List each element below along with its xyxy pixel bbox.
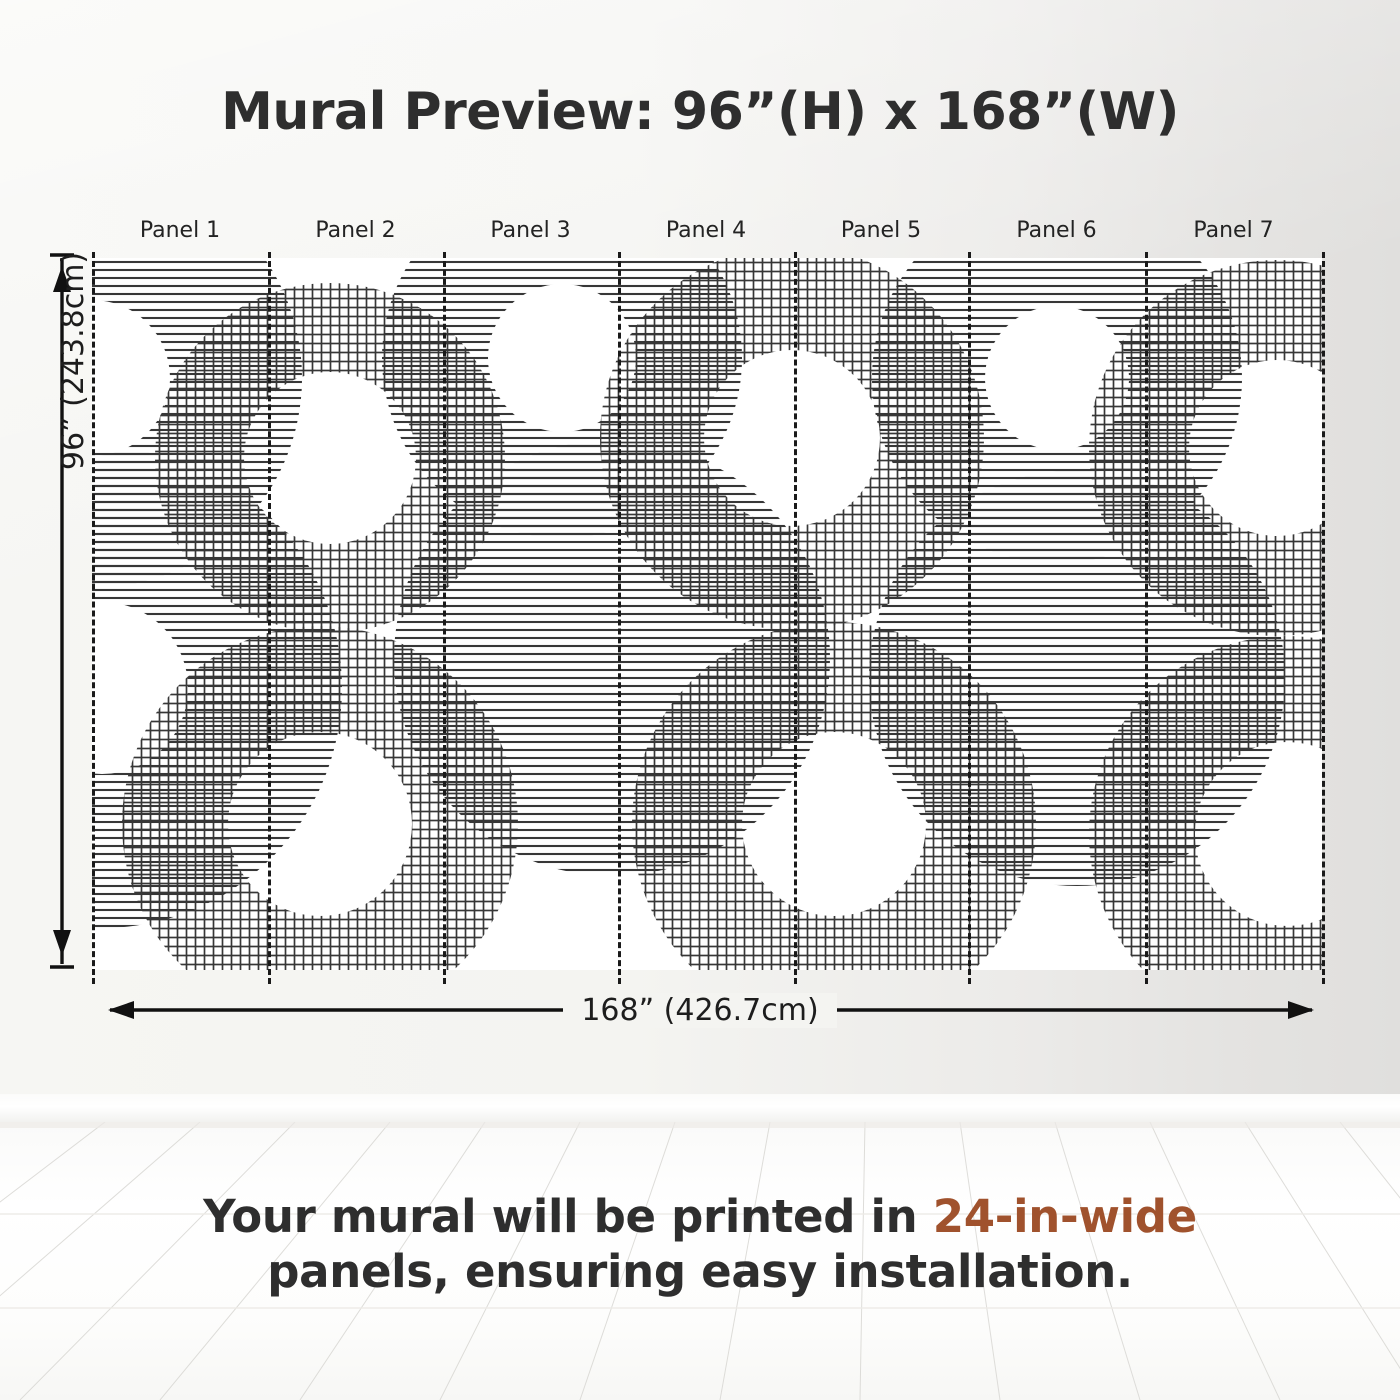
caption-line-1-text: Your mural will be printed in	[203, 1190, 933, 1243]
height-dimension-label: 96” (243.8cm)	[56, 211, 91, 511]
panel-label-3: Panel 3	[443, 218, 618, 243]
panel-divider-2	[443, 252, 446, 984]
panel-label-5: Panel 5	[794, 218, 968, 243]
caption-line-2: panels, ensuring easy installation.	[0, 1245, 1400, 1300]
panel-label-1: Panel 1	[92, 218, 268, 243]
panel-divider-6	[1145, 252, 1148, 984]
panel-label-7: Panel 7	[1145, 218, 1322, 243]
mural-art-svg	[92, 258, 1322, 970]
panel-label-2: Panel 2	[268, 218, 443, 243]
panel-divider-4	[794, 252, 797, 984]
caption: Your mural will be printed in 24-in-wide…	[0, 1190, 1400, 1300]
panel-divider-1	[268, 252, 271, 984]
panel-divider-7	[1322, 252, 1325, 984]
width-dimension-label: 168” (426.7cm)	[0, 993, 1400, 1028]
panel-label-4: Panel 4	[618, 218, 794, 243]
panel-divider-3	[618, 252, 621, 984]
panel-divider-5	[968, 252, 971, 984]
panel-label-6: Panel 6	[968, 218, 1145, 243]
panel-divider-0	[92, 252, 95, 984]
caption-accent: 24-in-wide	[933, 1190, 1197, 1243]
caption-line-1: Your mural will be printed in 24-in-wide	[0, 1190, 1400, 1245]
mural-artwork	[92, 258, 1322, 970]
mural-preview-stage: Panel 1 Panel 2 Panel 3 Panel 4 Panel 5 …	[0, 0, 1400, 1122]
